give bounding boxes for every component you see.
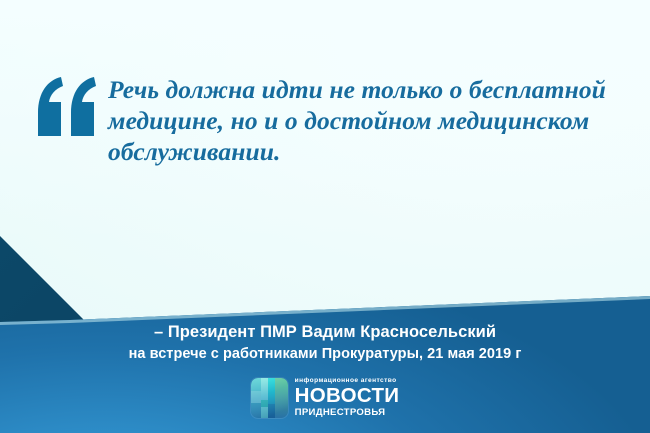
logo-region: ПРИДНЕСТРОВЬЯ	[295, 408, 400, 418]
attribution: – Президент ПМР Вадим Красносельский на …	[0, 322, 650, 364]
double-open-quote-icon	[34, 76, 98, 138]
quote-text: Речь должна идти не только о бесплатной …	[108, 74, 624, 167]
logo-lockup: информационное агентство НОВОСТИ ПРИДНЕС…	[0, 378, 650, 418]
logo-wordmark: информационное агентство НОВОСТИ ПРИДНЕС…	[295, 378, 400, 418]
attribution-speaker: – Президент ПМР Вадим Красносельский	[0, 322, 650, 343]
novosti-pridnestrovya-mark-icon	[251, 378, 288, 418]
attribution-context: на встрече с работниками Прокуратуры, 21…	[0, 344, 650, 364]
logo-name: НОВОСТИ	[295, 386, 400, 406]
quote-card: Речь должна идти не только о бесплатной …	[0, 0, 650, 433]
